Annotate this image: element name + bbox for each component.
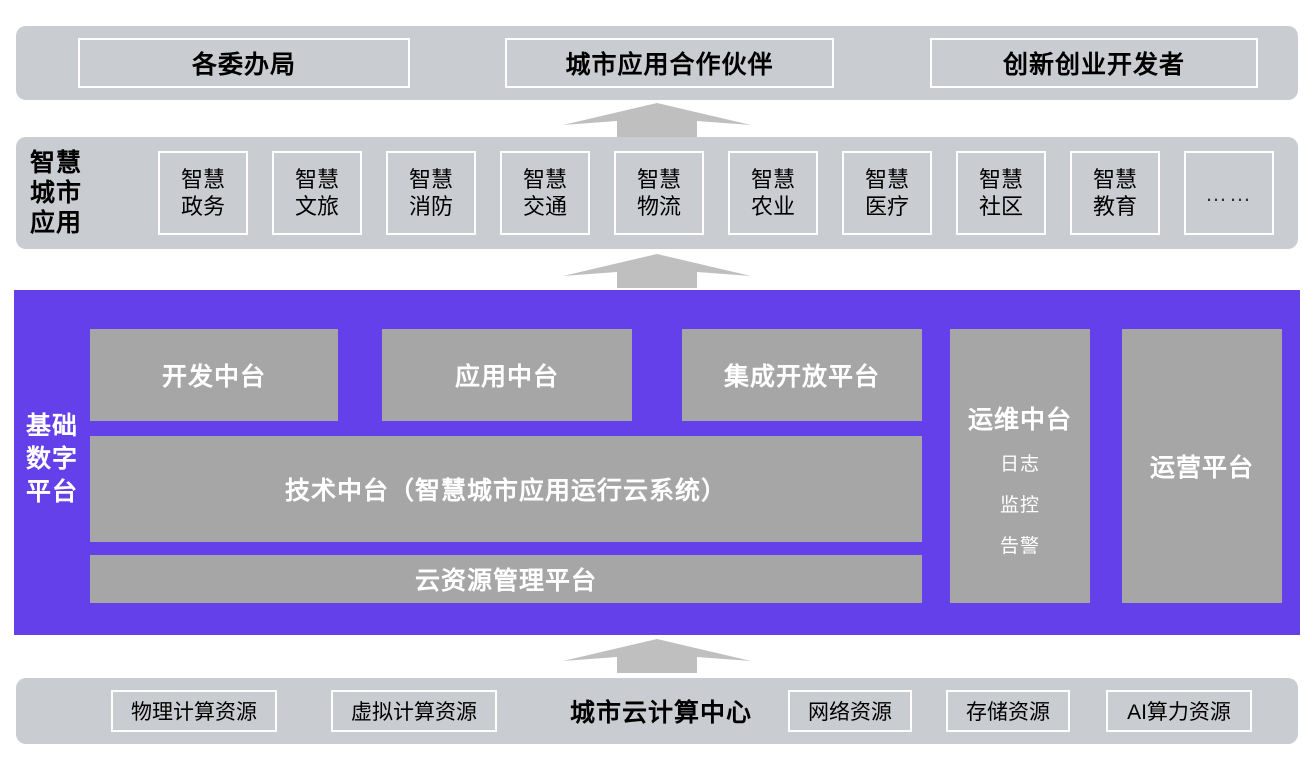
cloud-center-band: 物理计算资源 虚拟计算资源 城市云计算中心 网络资源 存储资源 AI算力资源 bbox=[16, 678, 1298, 744]
app-box-shequ[interactable]: 智慧 社区 bbox=[956, 151, 1046, 235]
consumer-label-2: 创新创业开发者 bbox=[1003, 45, 1185, 81]
consumer-label-0: 各委办局 bbox=[192, 45, 296, 81]
module-ops-title: 运维中台 bbox=[968, 405, 1072, 435]
app-label-line2-7: 社区 bbox=[979, 193, 1023, 220]
app-label-line1-6: 智慧 bbox=[865, 166, 909, 193]
consumers-band: 各委办局 城市应用合作伙伴 创新创业开发者 bbox=[16, 26, 1298, 100]
module-ops-middle-platform[interactable]: 运维中台 日志 监控 告警 bbox=[950, 329, 1090, 603]
cloud-label-physical: 物理计算资源 bbox=[131, 696, 257, 726]
apps-side-label: 智慧 城市 应用 bbox=[30, 145, 134, 241]
apps-side-label-line-2: 应用 bbox=[30, 208, 82, 238]
platform-side-label-line-0: 基础 bbox=[26, 410, 78, 443]
consumer-label-1: 城市应用合作伙伴 bbox=[565, 45, 773, 81]
app-box-wuliu[interactable]: 智慧 物流 bbox=[614, 151, 704, 235]
module-app-middle-platform[interactable]: 应用中台 bbox=[382, 329, 632, 421]
app-box-yiliao[interactable]: 智慧 医疗 bbox=[842, 151, 932, 235]
consumer-box-0[interactable]: 各委办局 bbox=[78, 38, 410, 88]
module-ops-sub-0: 日志 bbox=[1000, 449, 1040, 476]
cloud-center-title-text: 城市云计算中心 bbox=[570, 693, 752, 729]
app-label-line2-6: 医疗 bbox=[865, 193, 909, 220]
app-label-line2-4: 物流 bbox=[637, 193, 681, 220]
app-label-line1-1: 智慧 bbox=[295, 166, 339, 193]
app-box-jiaotong[interactable]: 智慧 交通 bbox=[500, 151, 590, 235]
cloud-label-storage: 存储资源 bbox=[966, 696, 1050, 726]
cloud-box-network[interactable]: 网络资源 bbox=[788, 690, 912, 732]
cloud-label-virtual: 虚拟计算资源 bbox=[351, 696, 477, 726]
app-box-wenlv[interactable]: 智慧 文旅 bbox=[272, 151, 362, 235]
app-box-jiaoyu[interactable]: 智慧 教育 bbox=[1070, 151, 1160, 235]
app-box-xiaofang[interactable]: 智慧 消防 bbox=[386, 151, 476, 235]
app-label-line1-3: 智慧 bbox=[523, 166, 567, 193]
app-label-line1-2: 智慧 bbox=[409, 166, 453, 193]
cloud-box-ai-compute[interactable]: AI算力资源 bbox=[1106, 690, 1252, 732]
module-dev-middle-platform[interactable]: 开发中台 bbox=[90, 329, 338, 421]
app-box-zhengwu[interactable]: 智慧 政务 bbox=[158, 151, 248, 235]
apps-band: 智慧 城市 应用 智慧 政务 智慧 文旅 智慧 消防 智慧 交通 智慧 物流 智… bbox=[16, 137, 1298, 249]
app-label-line2-3: 交通 bbox=[523, 193, 567, 220]
cloud-label-ai: AI算力资源 bbox=[1127, 696, 1231, 726]
app-label-line2-5: 农业 bbox=[751, 193, 795, 220]
cloud-label-network: 网络资源 bbox=[808, 696, 892, 726]
module-ops-sub-2: 告警 bbox=[1000, 531, 1040, 558]
module-app-label: 应用中台 bbox=[455, 357, 559, 393]
arrow-cloud-to-platform bbox=[562, 637, 752, 673]
module-ops-sub-1: 监控 bbox=[1000, 490, 1040, 517]
platform-side-label-line-2: 平台 bbox=[26, 476, 78, 509]
cloud-center-title: 城市云计算中心 bbox=[556, 690, 766, 732]
module-dev-label: 开发中台 bbox=[162, 357, 266, 393]
app-label-line1-0: 智慧 bbox=[181, 166, 225, 193]
app-label-line2-1: 文旅 bbox=[295, 193, 339, 220]
module-integration-open-platform[interactable]: 集成开放平台 bbox=[682, 329, 922, 421]
app-box-more[interactable]: …… bbox=[1184, 151, 1274, 235]
app-label-line1-8: 智慧 bbox=[1093, 166, 1137, 193]
arrow-apps-to-consumers bbox=[562, 101, 752, 137]
module-cloud-resource-label: 云资源管理平台 bbox=[415, 561, 597, 597]
app-label-line2-8: 教育 bbox=[1093, 193, 1137, 220]
module-integration-label: 集成开放平台 bbox=[724, 357, 880, 393]
apps-side-label-line-1: 城市 bbox=[30, 178, 82, 208]
app-label-line1-7: 智慧 bbox=[979, 166, 1023, 193]
platform-side-label-line-1: 数字 bbox=[26, 443, 78, 476]
cloud-box-virtual-compute[interactable]: 虚拟计算资源 bbox=[331, 690, 497, 732]
module-cloud-resource-platform[interactable]: 云资源管理平台 bbox=[90, 555, 922, 603]
apps-side-label-line-0: 智慧 bbox=[30, 148, 82, 178]
app-box-nongye[interactable]: 智慧 农业 bbox=[728, 151, 818, 235]
module-operation-label: 运营平台 bbox=[1150, 448, 1254, 484]
app-more-label: …… bbox=[1205, 180, 1253, 207]
app-label-line2-0: 政务 bbox=[181, 193, 225, 220]
consumer-box-2[interactable]: 创新创业开发者 bbox=[930, 38, 1258, 88]
cloud-box-storage[interactable]: 存储资源 bbox=[946, 690, 1070, 732]
app-label-line1-4: 智慧 bbox=[637, 166, 681, 193]
app-label-line1-5: 智慧 bbox=[751, 166, 795, 193]
architecture-diagram: 各委办局 城市应用合作伙伴 创新创业开发者 智慧 城市 应用 智慧 政务 智慧 … bbox=[0, 0, 1314, 759]
arrow-platform-to-apps bbox=[562, 252, 752, 288]
app-label-line2-2: 消防 bbox=[409, 193, 453, 220]
module-operation-platform[interactable]: 运营平台 bbox=[1122, 329, 1282, 603]
consumer-box-1[interactable]: 城市应用合作伙伴 bbox=[505, 38, 834, 88]
cloud-box-physical-compute[interactable]: 物理计算资源 bbox=[111, 690, 277, 732]
module-tech-label: 技术中台（智慧城市应用运行云系统） bbox=[285, 471, 727, 507]
digital-platform-panel: 基础 数字 平台 开发中台 应用中台 集成开放平台 技术中台（智慧城市应用运行云… bbox=[14, 290, 1300, 635]
module-tech-middle-platform[interactable]: 技术中台（智慧城市应用运行云系统） bbox=[90, 436, 922, 542]
